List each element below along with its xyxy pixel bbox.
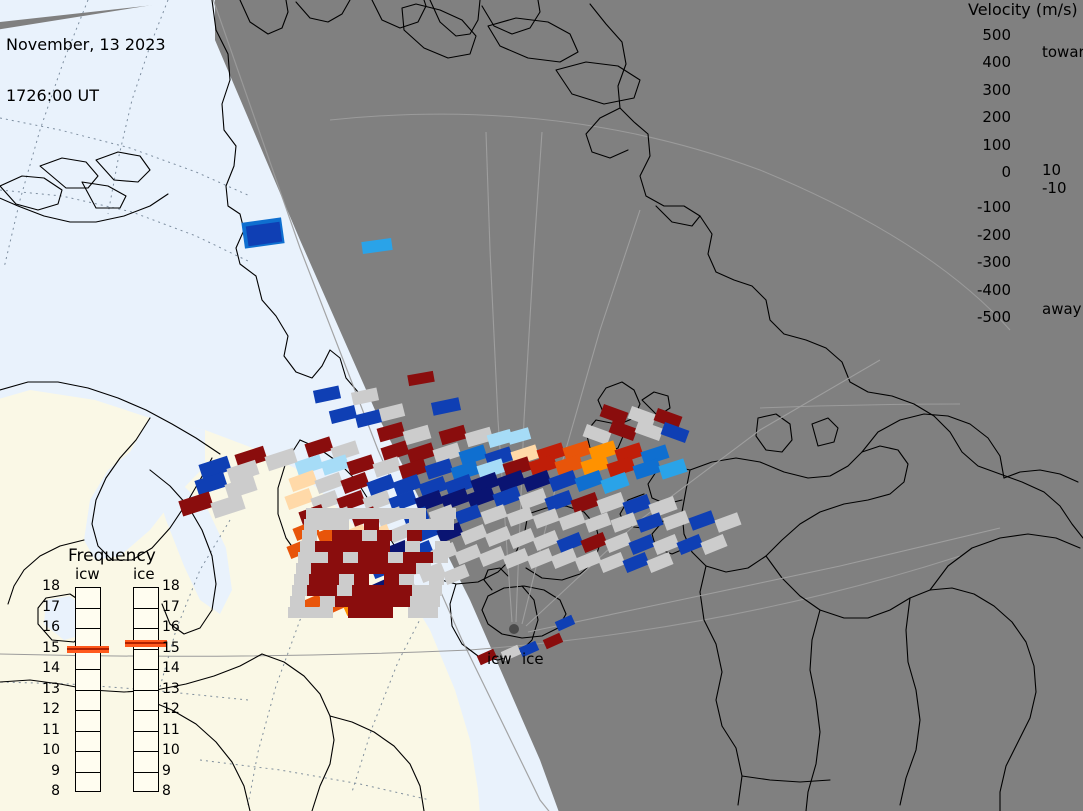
velocity-cell bbox=[412, 585, 427, 596]
velocity-cell bbox=[533, 508, 560, 528]
colorbar-toward-label: toward bbox=[1042, 43, 1083, 61]
velocity-cell bbox=[350, 596, 365, 607]
velocity-cell bbox=[559, 510, 586, 530]
colorbar-tick: -100 bbox=[959, 198, 1011, 216]
velocity-cell bbox=[632, 458, 661, 479]
velocity-cell bbox=[334, 519, 349, 530]
velocity-cell bbox=[313, 552, 328, 563]
velocity-cell bbox=[433, 552, 448, 563]
frequency-tick: 11 bbox=[38, 722, 60, 738]
velocity-cell bbox=[384, 574, 399, 585]
velocity-cell bbox=[309, 574, 324, 585]
velocity-cell bbox=[596, 492, 625, 514]
velocity-cell bbox=[492, 486, 521, 508]
frequency-marker-icw bbox=[67, 646, 109, 653]
velocity-cell bbox=[302, 530, 317, 541]
velocity-cell bbox=[663, 510, 690, 530]
velocity-cell bbox=[403, 552, 418, 563]
velocity-cell bbox=[306, 508, 321, 519]
frequency-tick: 13 bbox=[162, 681, 184, 697]
colorbar-tick: 400 bbox=[959, 53, 1011, 71]
colorbar-tick: 200 bbox=[959, 108, 1011, 126]
frequency-bar-gridline bbox=[133, 608, 159, 609]
colorbar-tick: 100 bbox=[959, 136, 1011, 154]
velocity-cell bbox=[362, 530, 377, 541]
velocity-cell bbox=[423, 607, 438, 618]
velocity-cell bbox=[336, 508, 351, 519]
velocity-cell bbox=[526, 548, 553, 569]
colorbar-tick: 300 bbox=[959, 81, 1011, 99]
velocity-cell bbox=[328, 552, 343, 563]
velocity-cell bbox=[321, 508, 336, 519]
frequency-tick: 18 bbox=[38, 578, 60, 594]
velocity-cell bbox=[424, 519, 439, 530]
frequency-marker-line bbox=[67, 648, 109, 650]
velocity-cell bbox=[356, 563, 371, 574]
velocity-cell bbox=[425, 596, 440, 607]
frequency-tick: 15 bbox=[38, 640, 60, 656]
velocity-cell bbox=[405, 541, 420, 552]
velocity-cell bbox=[290, 596, 305, 607]
velocity-cell bbox=[401, 563, 416, 574]
velocity-cell bbox=[303, 607, 318, 618]
velocity-cell bbox=[337, 585, 352, 596]
velocity-cell bbox=[284, 488, 313, 510]
colorbar-tick: -300 bbox=[959, 253, 1011, 271]
velocity-cell bbox=[363, 607, 378, 618]
frequency-bar-gridline bbox=[133, 731, 159, 732]
frequency-bar-gridline bbox=[75, 772, 101, 773]
frequency-bar-gridline bbox=[75, 628, 101, 629]
velocity-cell bbox=[555, 615, 576, 631]
velocity-cell bbox=[210, 493, 245, 518]
velocity-cell bbox=[442, 564, 469, 585]
frequency-bar-gridline bbox=[133, 628, 159, 629]
frequency-bar-gridline bbox=[133, 669, 159, 670]
timestamp-block: November, 13 2023 1726:00 UT bbox=[6, 2, 166, 139]
velocity-cell bbox=[311, 563, 326, 574]
velocity-cell bbox=[178, 491, 213, 516]
colorbar-center-high-label: 10 bbox=[1042, 161, 1061, 179]
colorbar-center-low-label: -10 bbox=[1042, 179, 1067, 197]
velocity-cell bbox=[396, 508, 411, 519]
velocity-cell bbox=[292, 585, 307, 596]
velocity-cell bbox=[194, 472, 227, 496]
velocity-cell bbox=[411, 508, 426, 519]
velocity-cell bbox=[345, 541, 360, 552]
velocity-cell bbox=[318, 607, 333, 618]
velocity-cell bbox=[466, 486, 495, 508]
frequency-tick: 14 bbox=[38, 660, 60, 676]
velocity-cell bbox=[326, 563, 341, 574]
frequency-tick: 13 bbox=[38, 681, 60, 697]
velocity-cell bbox=[365, 596, 380, 607]
velocity-cell bbox=[335, 596, 350, 607]
frequency-bar-gridline bbox=[75, 669, 101, 670]
velocity-cell bbox=[397, 585, 412, 596]
colorbar-tick: 0 bbox=[959, 163, 1011, 181]
frequency-tick: 11 bbox=[162, 722, 184, 738]
velocity-cell bbox=[322, 585, 337, 596]
frequency-tick: 15 bbox=[162, 640, 184, 656]
velocity-cell bbox=[381, 508, 396, 519]
velocity-cell bbox=[518, 488, 547, 510]
frequency-bar-gridline bbox=[133, 649, 159, 650]
velocity-cell bbox=[343, 552, 358, 563]
velocity-cell bbox=[600, 472, 629, 494]
velocity-cell bbox=[689, 510, 716, 530]
velocity-cell bbox=[416, 563, 431, 574]
colorbar-tick: -400 bbox=[959, 281, 1011, 299]
frequency-tick: 16 bbox=[162, 619, 184, 635]
velocity-cell bbox=[408, 607, 423, 618]
velocity-cell bbox=[439, 425, 468, 446]
velocity-cell bbox=[320, 596, 335, 607]
velocity-cell bbox=[360, 541, 375, 552]
date-label: November, 13 2023 bbox=[6, 36, 166, 54]
velocity-cell bbox=[570, 492, 599, 514]
velocity-cell bbox=[378, 607, 393, 618]
velocity-cell bbox=[427, 585, 442, 596]
frequency-tick: 14 bbox=[162, 660, 184, 676]
velocity-cell bbox=[307, 585, 322, 596]
velocity-cell bbox=[329, 405, 357, 424]
velocity-cell bbox=[348, 607, 363, 618]
frequency-tick: 8 bbox=[38, 783, 60, 799]
velocity-cell bbox=[439, 519, 454, 530]
velocity-cell bbox=[332, 530, 347, 541]
velocity-cell bbox=[324, 574, 339, 585]
velocity-cell bbox=[300, 541, 315, 552]
velocity-cell bbox=[507, 506, 534, 526]
frequency-tick: 9 bbox=[162, 763, 184, 779]
velocity-cell bbox=[410, 596, 425, 607]
velocity-cell bbox=[548, 470, 577, 492]
velocity-cell bbox=[409, 519, 424, 530]
frequency-bar-gridline bbox=[133, 772, 159, 773]
velocity-cell bbox=[507, 427, 531, 445]
velocity-cell bbox=[313, 385, 341, 403]
velocity-cell bbox=[347, 530, 362, 541]
velocity-cell bbox=[354, 574, 369, 585]
frequency-tick: 8 bbox=[162, 783, 184, 799]
frequency-marker-line bbox=[125, 642, 167, 644]
frequency-bar-gridline bbox=[75, 608, 101, 609]
colorbar-tick: -500 bbox=[959, 308, 1011, 326]
frequency-bar-name-icw: icw bbox=[75, 565, 100, 583]
velocity-cell bbox=[340, 472, 369, 494]
velocity-cell bbox=[351, 387, 379, 405]
velocity-cell bbox=[598, 552, 625, 573]
velocity-cell bbox=[544, 490, 573, 512]
frequency-bar-gridline bbox=[75, 751, 101, 752]
velocity-cell bbox=[379, 403, 405, 421]
velocity-cell bbox=[330, 541, 345, 552]
velocity-cell bbox=[661, 422, 690, 443]
velocity-cell bbox=[622, 552, 649, 573]
velocity-cell bbox=[361, 238, 392, 254]
frequency-bar-gridline bbox=[75, 710, 101, 711]
velocity-cell bbox=[319, 519, 334, 530]
frequency-bar-gridline bbox=[133, 751, 159, 752]
velocity-cell bbox=[407, 530, 422, 541]
velocity-cell bbox=[367, 585, 382, 596]
map-site-label-ice: ice bbox=[522, 650, 544, 668]
velocity-cell bbox=[288, 607, 303, 618]
colorbar-away-label: away bbox=[1042, 300, 1082, 318]
frequency-bar-gridline bbox=[75, 690, 101, 691]
velocity-cell bbox=[522, 470, 551, 492]
velocity-cell bbox=[395, 596, 410, 607]
velocity-cell bbox=[351, 508, 366, 519]
velocity-cell bbox=[543, 633, 564, 649]
frequency-tick: 10 bbox=[162, 742, 184, 758]
velocity-cell bbox=[371, 563, 386, 574]
velocity-cell bbox=[358, 552, 373, 563]
velocity-cell bbox=[377, 422, 406, 443]
velocity-cell bbox=[715, 512, 742, 532]
frequency-bar-name-ice: ice bbox=[133, 565, 155, 583]
velocity-cell bbox=[288, 470, 317, 492]
velocity-cell bbox=[637, 512, 664, 532]
velocity-cell bbox=[399, 574, 414, 585]
time-label: 1726:00 UT bbox=[6, 87, 166, 105]
velocity-cell bbox=[585, 512, 612, 532]
frequency-legend: icwice1818171716161515141413131212111110… bbox=[40, 565, 200, 811]
velocity-cell bbox=[646, 552, 673, 573]
frequency-bar-gridline bbox=[133, 710, 159, 711]
frequency-tick: 18 bbox=[162, 578, 184, 594]
frequency-tick: 12 bbox=[162, 701, 184, 717]
velocity-cell bbox=[502, 548, 529, 569]
velocity-cell bbox=[388, 552, 403, 563]
velocity-cell bbox=[264, 448, 297, 472]
map-canvas: November, 13 2023 1726:00 UT Velocity (m… bbox=[0, 0, 1083, 811]
velocity-cell bbox=[314, 472, 343, 494]
velocity-cell bbox=[609, 420, 638, 441]
velocity-cell bbox=[341, 563, 356, 574]
velocity-cell bbox=[382, 585, 397, 596]
velocity-cell bbox=[418, 552, 433, 563]
velocity-cell bbox=[574, 470, 603, 492]
velocity-cell bbox=[441, 508, 456, 519]
colorbar-tick: -200 bbox=[959, 226, 1011, 244]
velocity-cell bbox=[658, 458, 687, 479]
velocity-cell bbox=[380, 596, 395, 607]
velocity-cell bbox=[481, 504, 508, 524]
colorbar-tick: 500 bbox=[959, 26, 1011, 44]
velocity-cell bbox=[611, 512, 638, 532]
velocity-cell bbox=[298, 552, 313, 563]
frequency-bar-gridline bbox=[75, 731, 101, 732]
frequency-tick: 16 bbox=[38, 619, 60, 635]
frequency-tick: 9 bbox=[38, 763, 60, 779]
velocity-cell bbox=[377, 530, 392, 541]
velocity-cell bbox=[364, 519, 379, 530]
frequency-tick: 12 bbox=[38, 701, 60, 717]
frequency-tick: 10 bbox=[38, 742, 60, 758]
colorbar-tick-labels: 5004003002001000-100-200-300-400-500 bbox=[955, 0, 1011, 340]
map-site-label-icw: icw bbox=[487, 650, 512, 668]
velocity-cell bbox=[676, 534, 703, 555]
velocity-cell bbox=[373, 552, 388, 563]
velocity-cell bbox=[431, 397, 461, 416]
velocity-cell bbox=[366, 508, 381, 519]
velocity-cell bbox=[700, 534, 727, 555]
frequency-tick: 17 bbox=[38, 599, 60, 615]
velocity-cell bbox=[352, 585, 367, 596]
velocity-cell bbox=[296, 563, 311, 574]
velocity-cell bbox=[375, 541, 390, 552]
velocity-cell bbox=[435, 541, 450, 552]
velocity-cell bbox=[403, 425, 432, 446]
velocity-cell bbox=[407, 371, 435, 386]
velocity-cell bbox=[386, 563, 401, 574]
velocity-cell bbox=[635, 420, 664, 441]
frequency-tick: 17 bbox=[162, 599, 184, 615]
velocity-cell bbox=[339, 574, 354, 585]
frequency-bar-gridline bbox=[133, 690, 159, 691]
velocity-cell bbox=[294, 574, 309, 585]
velocity-cell bbox=[429, 574, 444, 585]
velocity-cell bbox=[622, 494, 651, 516]
frequency-marker-ice bbox=[125, 640, 167, 647]
velocity-cell bbox=[315, 541, 330, 552]
velocity-cell bbox=[304, 519, 319, 530]
frequency-legend-title: Frequency bbox=[68, 548, 156, 566]
